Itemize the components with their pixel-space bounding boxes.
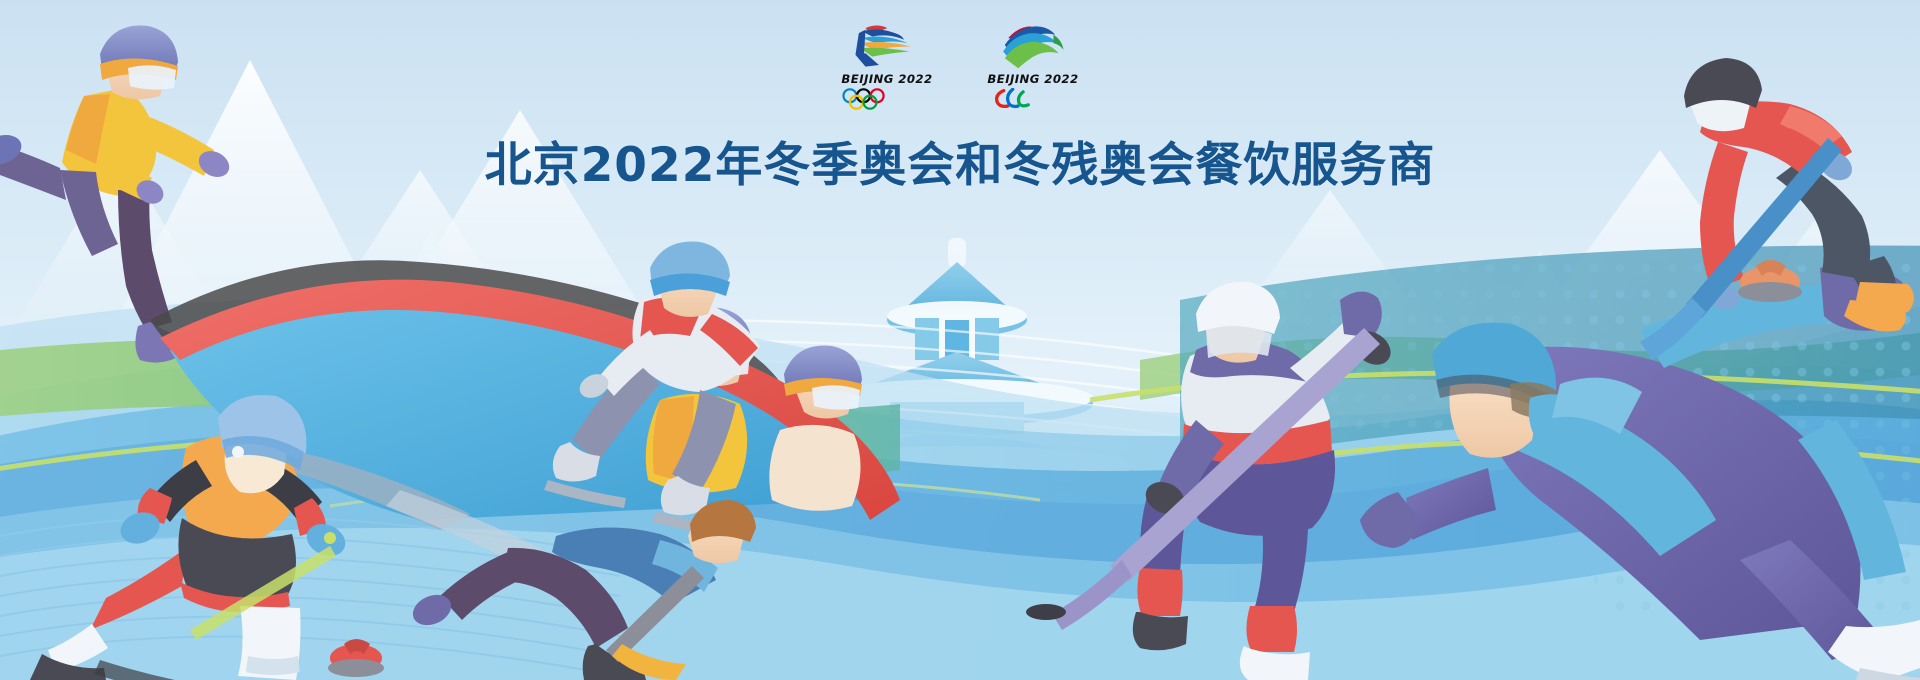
- olympic-banner: BEIJING 2022: [0, 0, 1920, 680]
- athlete-speed-skater-large: [1360, 264, 1920, 680]
- athlete-alpine-skier: [30, 395, 350, 680]
- athlete-ice-hockey: [1026, 282, 1397, 680]
- athletes-layer: [0, 0, 1920, 680]
- athlete-curling-sweeper: [328, 500, 756, 680]
